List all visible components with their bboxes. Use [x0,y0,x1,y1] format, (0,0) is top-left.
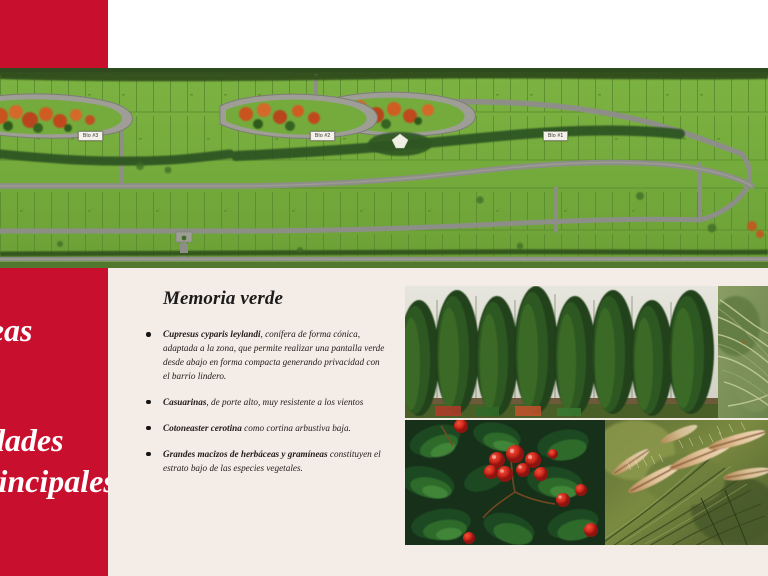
ornamental-grass-photo [718,286,768,418]
conifer-hedge-photo [405,286,718,418]
aerial-master-plan: Blo #3 Blo #2 Blo #1 [0,68,768,268]
cotoneaster-berries-photo [405,420,605,545]
master-plan-drawing [0,68,768,268]
list-item: Grandes macizos de herbáceas y gramíneas… [130,448,388,476]
sidebar-title: Áreas verdades principales [0,268,108,576]
plan-label-block-1[interactable]: Blo #1 [543,131,568,141]
sidebar-title-line-3: principales [0,464,108,500]
species-list: Cupresus cyparis leylandi, conífera de f… [130,328,388,476]
list-item: Casuarinas, de porte alto, muy resistent… [130,396,388,410]
top-white-band [108,0,768,68]
memoria-verde-title: Memoria verde [163,288,388,310]
species-name: Casuarinas [163,397,206,407]
red-accent-bar-top [0,0,108,68]
list-item: Cotoneaster cerotina como cortina arbust… [130,422,388,436]
cul-de-sac-right [220,94,378,138]
pennisetum-plumes-photo [605,420,768,545]
slide-root: Áreas verdades principales [0,0,768,576]
memoria-verde-section: Memoria verde Cupresus cyparis leylandi,… [130,288,388,488]
clubhouse-building [368,132,432,156]
species-description: como cortina arbustiva baja. [242,423,351,433]
sidebar-title-line-2: verdades [0,423,64,459]
species-name: Cupresus cyparis leylandi [163,329,261,339]
plan-label-block-2[interactable]: Blo #2 [310,131,335,141]
photo-grid [405,286,768,545]
sidebar-title-line-1: Áreas [0,313,32,349]
species-name: Grandes macizos de herbáceas y gramíneas [163,449,328,459]
list-item: Cupresus cyparis leylandi, conífera de f… [130,328,388,384]
species-description: , de porte alto, muy resistente a los vi… [206,397,363,407]
species-name: Cotoneaster cerotina [163,423,242,433]
plan-label-block-3[interactable]: Blo #3 [78,131,103,141]
